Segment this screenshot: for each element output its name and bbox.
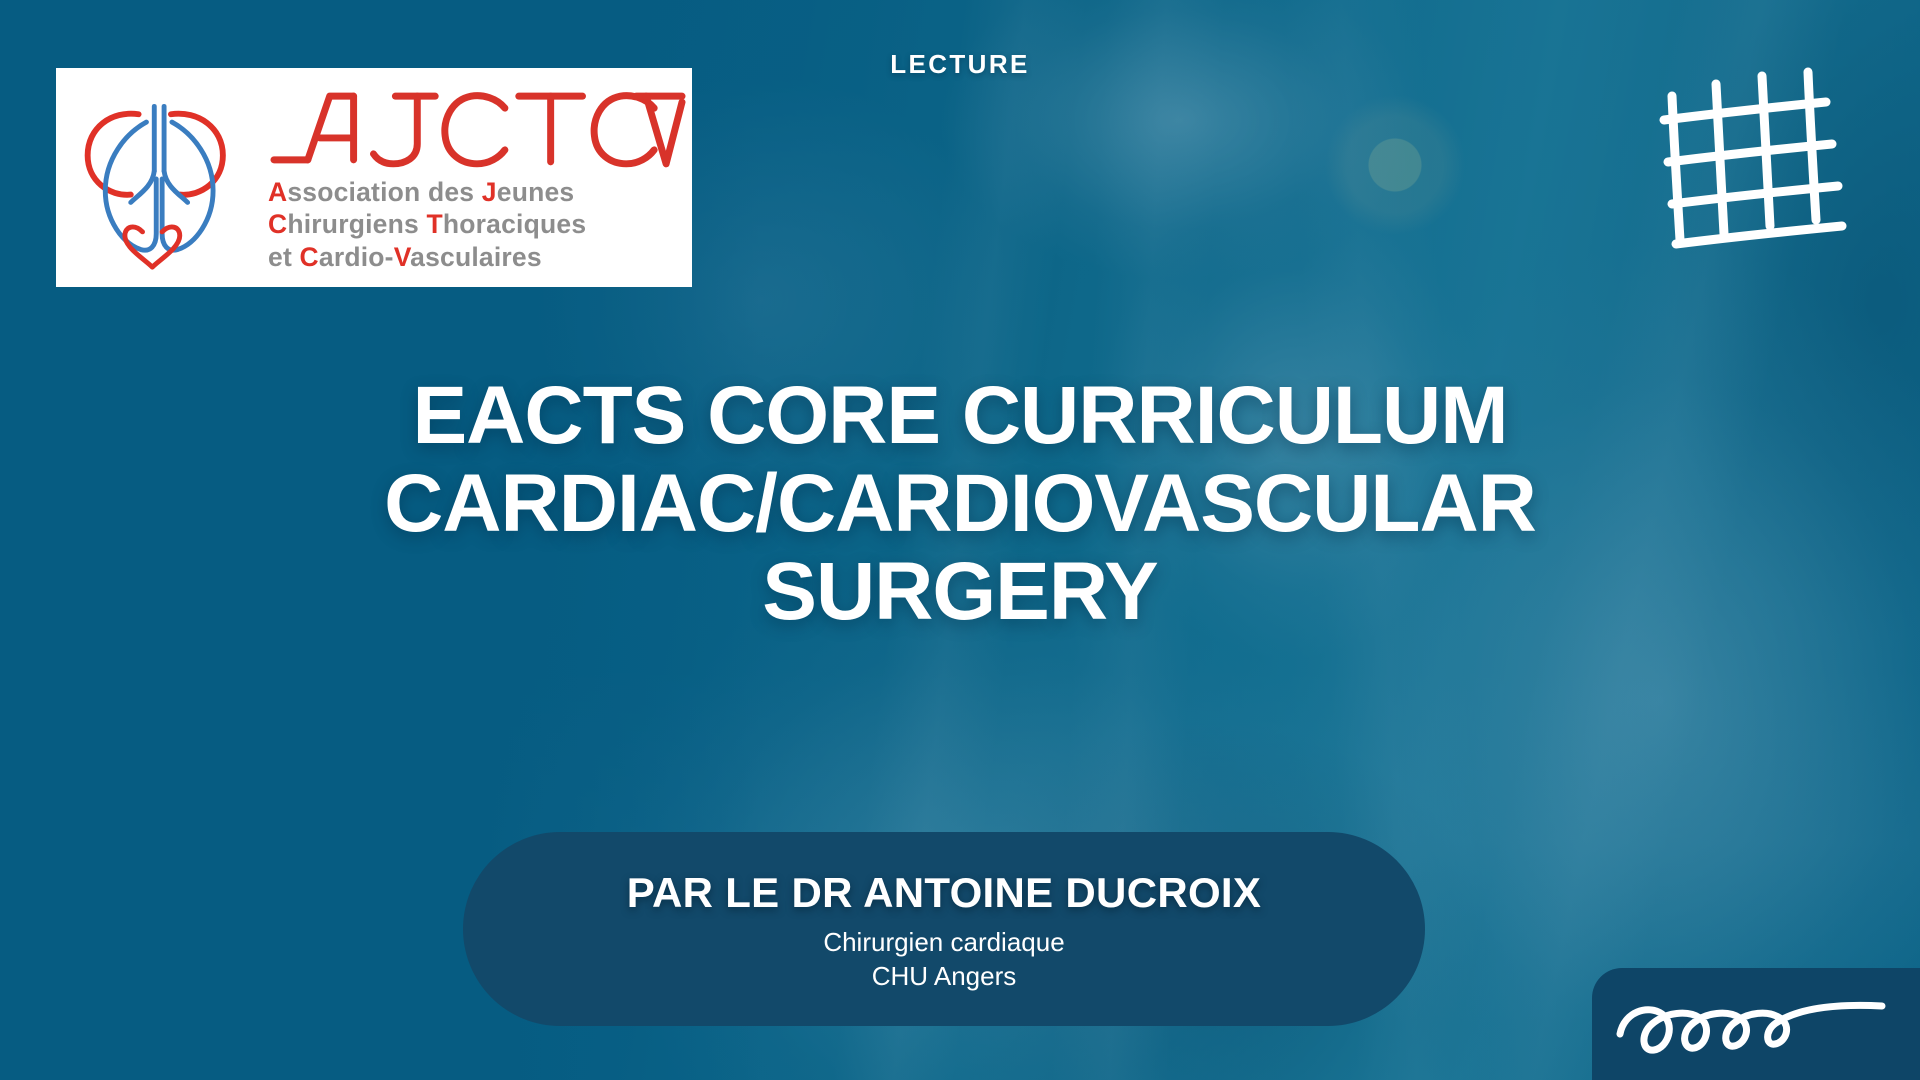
- speaker-card: PAR LE DR ANTOINE DUCROIX Chirurgien car…: [463, 832, 1425, 1026]
- title-line-2: CARDIAC/CARDIOVASCULAR: [0, 460, 1920, 548]
- ajctcv-logo-card: Association des Jeunes Chirurgiens Thora…: [56, 68, 692, 287]
- speaker-institution: CHU Angers: [872, 959, 1017, 993]
- speaker-name: PAR LE DR ANTOINE DUCROIX: [627, 869, 1261, 917]
- logo-tagline-line-2: Chirurgiens Thoraciques: [268, 208, 686, 240]
- eyebrow-label: LECTURE: [0, 49, 1920, 80]
- squiggle-decoration-panel: [1592, 968, 1920, 1080]
- title-line-3: SURGERY: [0, 548, 1920, 636]
- logo-wordmark: [268, 82, 686, 176]
- lungs-heart-icon: [70, 77, 266, 278]
- speaker-role: Chirurgien cardiaque: [823, 925, 1064, 959]
- logo-tagline-line-3: et Cardio-Vasculaires: [268, 241, 686, 273]
- title-line-1: EACTS CORE CURRICULUM: [0, 372, 1920, 460]
- page-title: EACTS CORE CURRICULUM CARDIAC/CARDIOVASC…: [0, 372, 1920, 636]
- logo-tagline-line-1: Association des Jeunes: [268, 176, 686, 208]
